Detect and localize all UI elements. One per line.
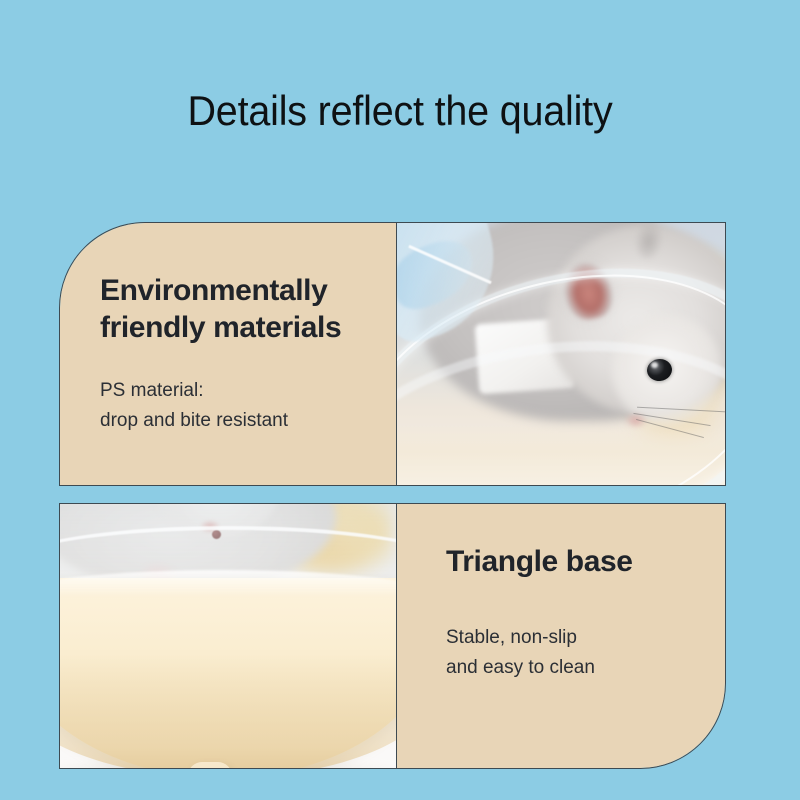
feature-panel-triangle-base: Triangle base Stable, non-slip and easy … [59,503,726,769]
feature-heading-line-2: friendly materials [100,311,341,344]
feature-body-line-2: and easy to clean [446,657,595,678]
feature-heading: Triangle base [446,543,633,580]
bowl-base-lip-highlight [60,570,396,596]
feature-heading-line-1: Environmentally [100,274,327,307]
feature-heading-line-1: Triangle base [446,545,633,578]
feature-body: Stable, non-slip and easy to clean [446,623,595,683]
page-title: Details reflect the quality [24,86,776,136]
product-photo-bowl-base [60,504,396,768]
feature-heading: Environmentally friendly materials [100,272,341,346]
hamster-eye-glint [651,362,658,368]
feature-body: PS material: drop and bite resistant [100,376,288,436]
feature-body-line-1: Stable, non-slip [446,627,577,648]
feature-text-block: Triangle base Stable, non-slip and easy … [396,504,725,768]
feature-body-line-1: PS material: [100,380,203,401]
poster-stage: Details reflect the quality Environmenta… [0,0,800,800]
feature-panel-environmentally-friendly-materials: Environmentally friendly materials PS ma… [59,222,726,486]
feature-text-block: Environmentally friendly materials PS ma… [60,223,397,485]
bowl-base-shading [60,654,396,768]
product-photo-hamster-in-bath [397,223,725,485]
feature-body-line-2: drop and bite resistant [100,410,288,431]
